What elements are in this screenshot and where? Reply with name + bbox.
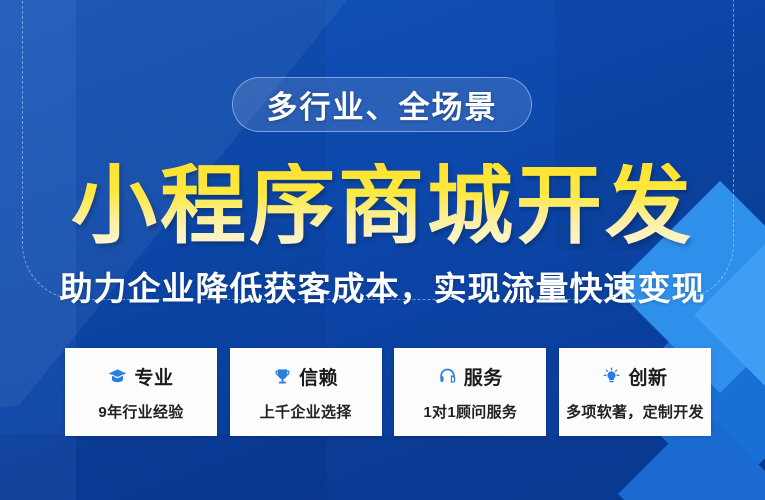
feature-card-title: 服务 bbox=[464, 363, 503, 390]
feature-card-head: 专业 bbox=[108, 363, 173, 390]
lightbulb-icon bbox=[602, 367, 621, 386]
feature-card-head: 信赖 bbox=[273, 363, 338, 390]
feature-card[interactable]: 专业 9年行业经验 bbox=[65, 348, 217, 436]
feature-card-desc: 9年行业经验 bbox=[98, 401, 183, 422]
feature-card[interactable]: 创新 多项软著，定制开发 bbox=[559, 348, 711, 436]
trophy-icon bbox=[273, 367, 292, 386]
dashed-frame-decoration bbox=[22, 0, 734, 300]
subtitle-text: 助力企业降低获客成本，实现流量快速变现 bbox=[60, 270, 706, 307]
tagline-badge-label: 多行业、全场景 bbox=[267, 82, 498, 127]
feature-card-head: 服务 bbox=[438, 363, 503, 390]
promo-banner: 多行业、全场景 小程序商城开发 助力企业降低获客成本，实现流量快速变现 专业 9… bbox=[0, 0, 765, 500]
graduation-cap-icon bbox=[108, 367, 127, 386]
feature-card-head: 创新 bbox=[602, 363, 667, 390]
subtitle: 助力企业降低获客成本，实现流量快速变现 bbox=[0, 262, 765, 310]
feature-card-desc: 多项软著，定制开发 bbox=[566, 401, 704, 422]
feature-card-desc: 1对1顾问服务 bbox=[423, 401, 517, 422]
feature-card-title: 专业 bbox=[134, 363, 173, 390]
tagline-badge: 多行业、全场景 bbox=[232, 77, 532, 132]
feature-card-title: 信赖 bbox=[299, 363, 338, 390]
headset-icon bbox=[438, 367, 457, 386]
feature-card[interactable]: 服务 1对1顾问服务 bbox=[394, 348, 546, 436]
feature-card-title: 创新 bbox=[628, 363, 667, 390]
headline-text: 小程序商城开发 bbox=[71, 163, 694, 249]
feature-card-list: 专业 9年行业经验 信赖 上千企业选择 bbox=[65, 348, 711, 436]
feature-card[interactable]: 信赖 上千企业选择 bbox=[230, 348, 382, 436]
headline: 小程序商城开发 bbox=[0, 163, 765, 249]
feature-card-desc: 上千企业选择 bbox=[260, 401, 352, 422]
